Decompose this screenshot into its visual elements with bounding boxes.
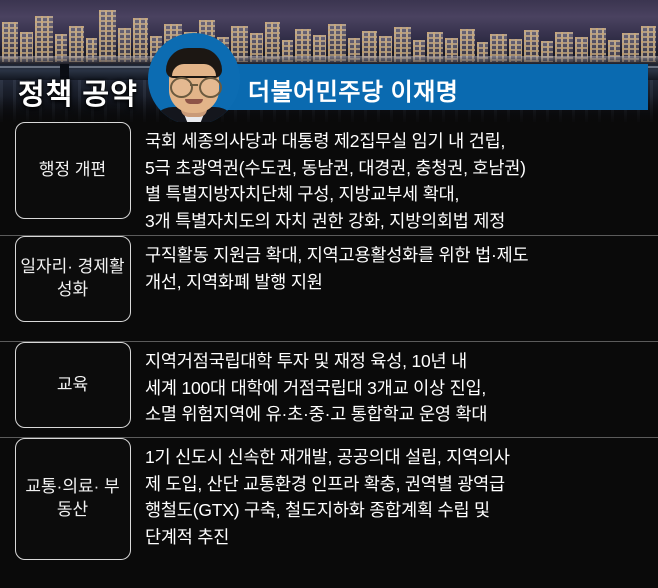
avatar-hair: [166, 48, 222, 78]
category-cell: 일자리· 경제활성화: [0, 236, 145, 322]
category-label-administration: 행정 개편: [15, 122, 131, 219]
category-label-transport-medical-realestate: 교통·의료· 부동산: [15, 438, 131, 560]
pledge-description-education: 지역거점국립대학 투자 및 재정 육성, 10년 내 세계 100대 대학에 거…: [145, 342, 658, 428]
avatar-mouth: [185, 99, 203, 104]
pledge-description-jobs-economy: 구직활동 지원금 확대, 지역고용활성화를 위한 법·제도 개선, 지역화폐 발…: [145, 236, 658, 295]
table-row: 교육 지역거점국립대학 투자 및 재정 육성, 10년 내 세계 100대 대학…: [0, 342, 658, 437]
page-title: 정책 공약: [18, 71, 138, 113]
avatar-glasses-left: [170, 77, 193, 98]
avatar-glasses-bridge: [190, 84, 198, 86]
table-row: 일자리· 경제활성화 구직활동 지원금 확대, 지역고용활성화를 위한 법·제도…: [0, 236, 658, 341]
pledge-description-administration: 국회 세종의사당과 대통령 제2집무실 임기 내 건립, 5극 초광역권(수도권…: [145, 122, 658, 234]
city-skyline: [0, 0, 658, 62]
pledge-table: 행정 개편 국회 세종의사당과 대통령 제2집무실 임기 내 건립, 5극 초광…: [0, 122, 658, 578]
candidate-name-bar: 더불어민주당 이재명: [215, 64, 648, 110]
category-label-jobs-economy: 일자리· 경제활성화: [15, 236, 131, 322]
category-label-education: 교육: [15, 342, 131, 428]
category-cell: 행정 개편: [0, 122, 145, 219]
table-row: 교통·의료· 부동산 1기 신도시 신속한 재개발, 공공의대 설립, 지역의사…: [0, 438, 658, 578]
pledge-description-transport-medical-realestate: 1기 신도시 신속한 재개발, 공공의대 설립, 지역의사 제 도입, 산단 교…: [145, 438, 658, 550]
category-cell: 교통·의료· 부동산: [0, 438, 145, 560]
table-row: 행정 개편 국회 세종의사당과 대통령 제2집무실 임기 내 건립, 5극 초광…: [0, 122, 658, 235]
policy-pledge-infographic: 정책 공약 더불어민주당 이재명 행정 개편 국회 세종의사당과 대통령 제2집…: [0, 0, 658, 588]
avatar-glasses-right: [199, 77, 222, 98]
candidate-name-label: 더불어민주당 이재명: [248, 72, 458, 107]
candidate-avatar: [148, 33, 240, 125]
category-cell: 교육: [0, 342, 145, 428]
